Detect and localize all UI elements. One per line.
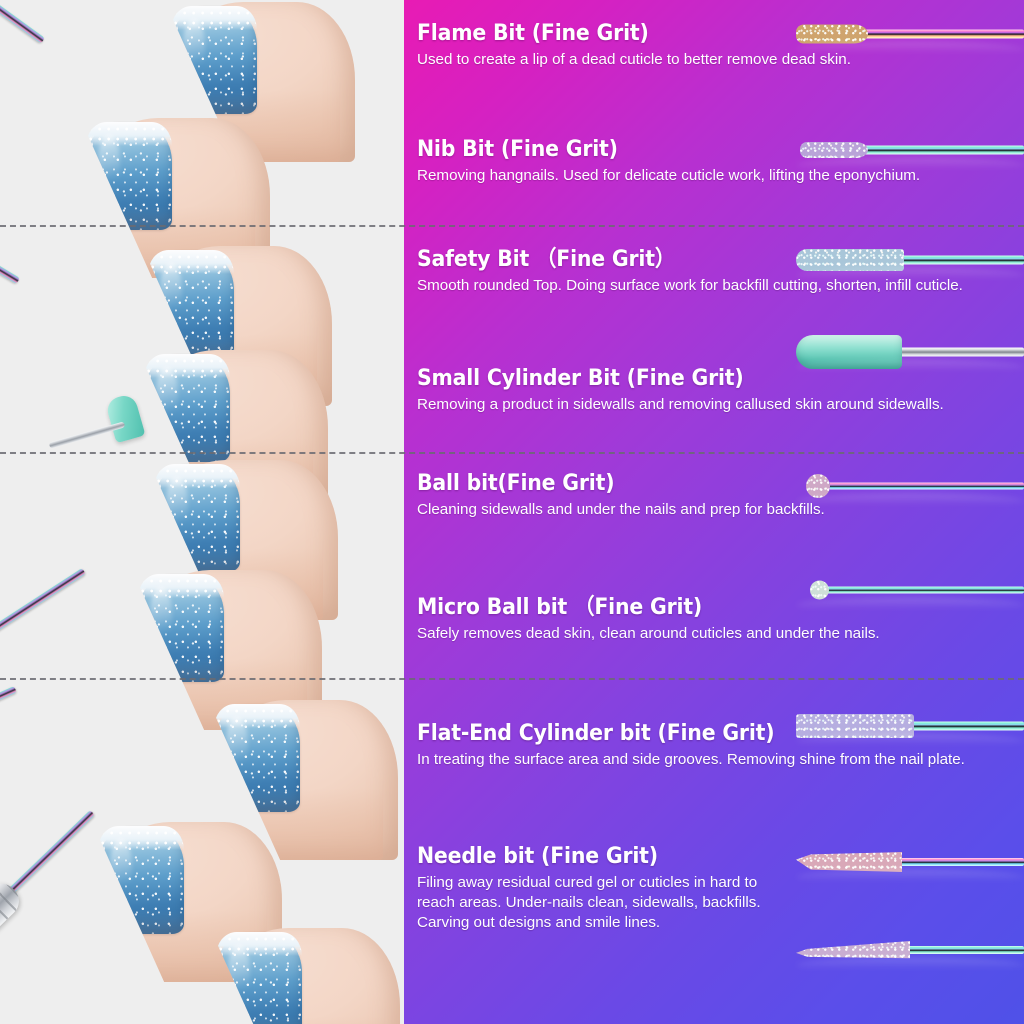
flame-bit-head	[796, 25, 868, 44]
needle-bit-secondary-icon	[796, 930, 1024, 970]
painted-nail	[154, 464, 240, 572]
section-divider-3	[0, 678, 1024, 680]
product-infographic: Flame Bit (Fine Grit) Used to create a l…	[0, 0, 1024, 1024]
entry-description: Filing away residual cured gel or cuticl…	[417, 873, 762, 934]
entry-description: Removing a product in sidewalls and remo…	[417, 395, 1017, 415]
ball-bit-icon	[796, 466, 1024, 506]
nib-bit-head	[800, 142, 868, 158]
safety-bit-icon	[796, 240, 1024, 280]
small-cylinder-bit-icon	[796, 332, 1024, 372]
painted-nail	[214, 704, 300, 812]
flat-end-cylinder-bit-icon	[796, 706, 1024, 746]
section-divider-1	[0, 225, 1024, 227]
needle-bit-icon	[796, 842, 1024, 882]
entry-description: In treating the surface area and side gr…	[417, 750, 1022, 770]
painted-nail	[138, 574, 224, 682]
ball-bit-head	[806, 474, 830, 498]
photo-needle-bit-undernail-demo	[150, 918, 400, 1024]
flame-bit-icon	[796, 14, 1024, 54]
entry-description: Safely removes dead skin, clean around c…	[417, 624, 1022, 644]
painted-nail	[144, 354, 230, 462]
painted-nail	[171, 6, 257, 114]
section-divider-2	[0, 452, 1024, 454]
bit-description-panel: Flame Bit (Fine Grit) Used to create a l…	[404, 0, 1024, 1024]
micro-ball-bit-icon	[796, 570, 1024, 610]
small-cylinder-bit-icon	[105, 393, 146, 444]
painted-nail	[216, 932, 302, 1024]
nib-bit-icon	[796, 130, 1024, 170]
micro-ball-bit-head	[810, 581, 829, 600]
fingertip	[210, 928, 400, 1024]
photo-demonstration-panel	[0, 0, 404, 1024]
painted-nail	[86, 122, 172, 230]
